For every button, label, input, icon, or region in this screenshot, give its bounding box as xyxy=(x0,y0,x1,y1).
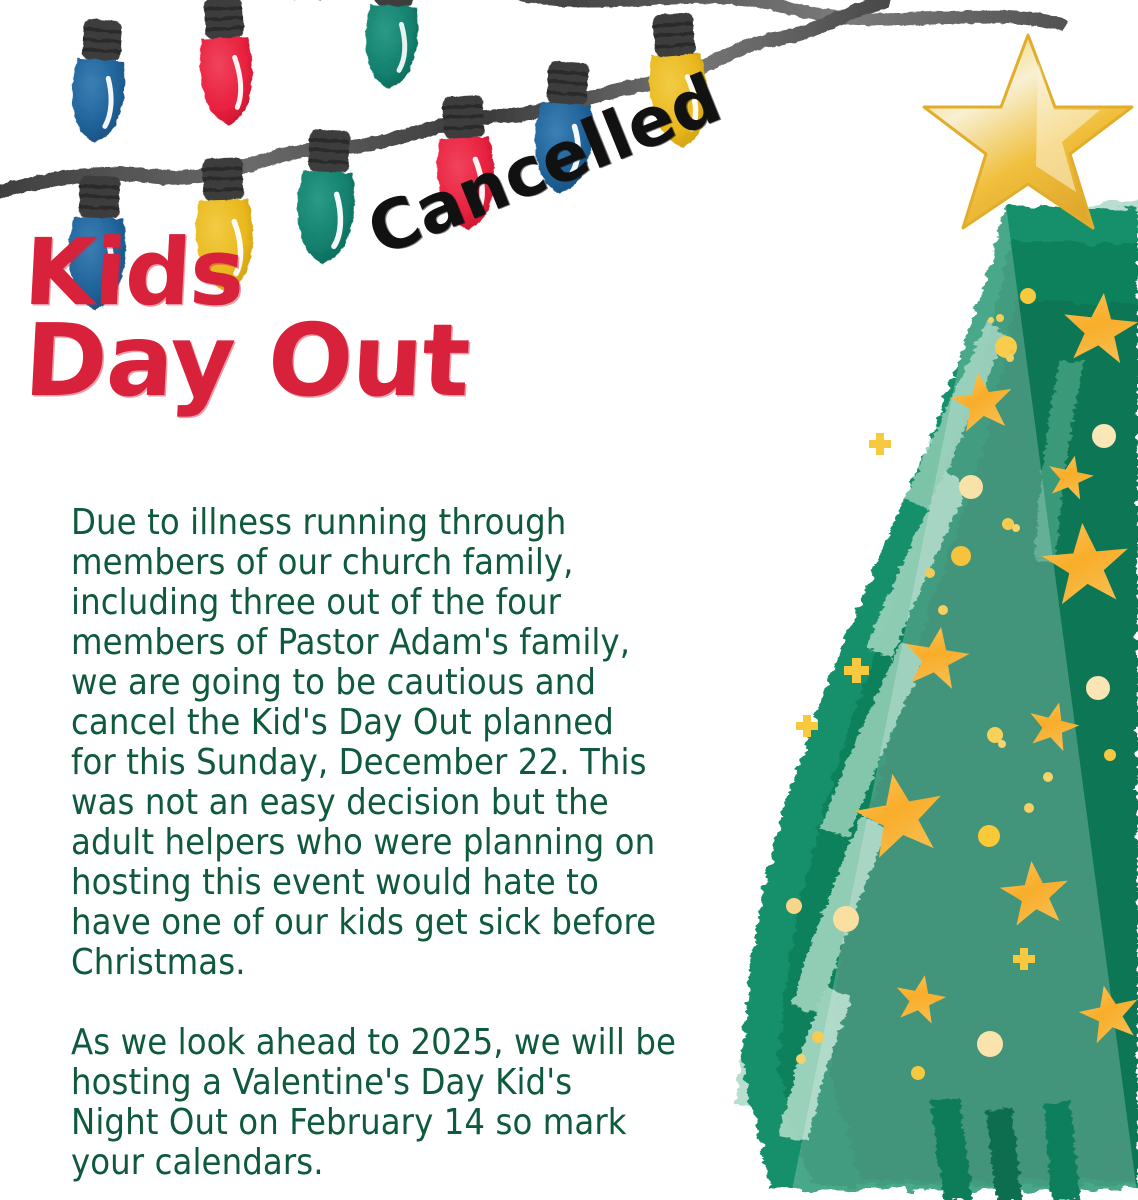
light-bulb-blue xyxy=(69,18,130,144)
headline-line-2: Day Out xyxy=(22,312,647,410)
headline: Kids Day Out xyxy=(22,228,642,410)
tree-base-strokes xyxy=(930,1098,1080,1200)
body-paragraph-1: Due to illness running through members o… xyxy=(71,503,811,983)
tree-star-ornaments xyxy=(849,289,1138,1046)
tree-star-topper xyxy=(924,35,1132,228)
tree-dot-ornaments xyxy=(786,288,1116,1080)
body-copy: Due to illness running through members o… xyxy=(71,503,811,1183)
light-bulb-green xyxy=(363,0,421,90)
body-paragraph-2: As we look ahead to 2025, we will be hos… xyxy=(71,1023,811,1183)
tree-highlights xyxy=(780,320,1084,1142)
light-bulb-red xyxy=(197,0,256,126)
poster-canvas: Kids Day Out Cancelled Due to illness ru… xyxy=(0,0,1138,1200)
